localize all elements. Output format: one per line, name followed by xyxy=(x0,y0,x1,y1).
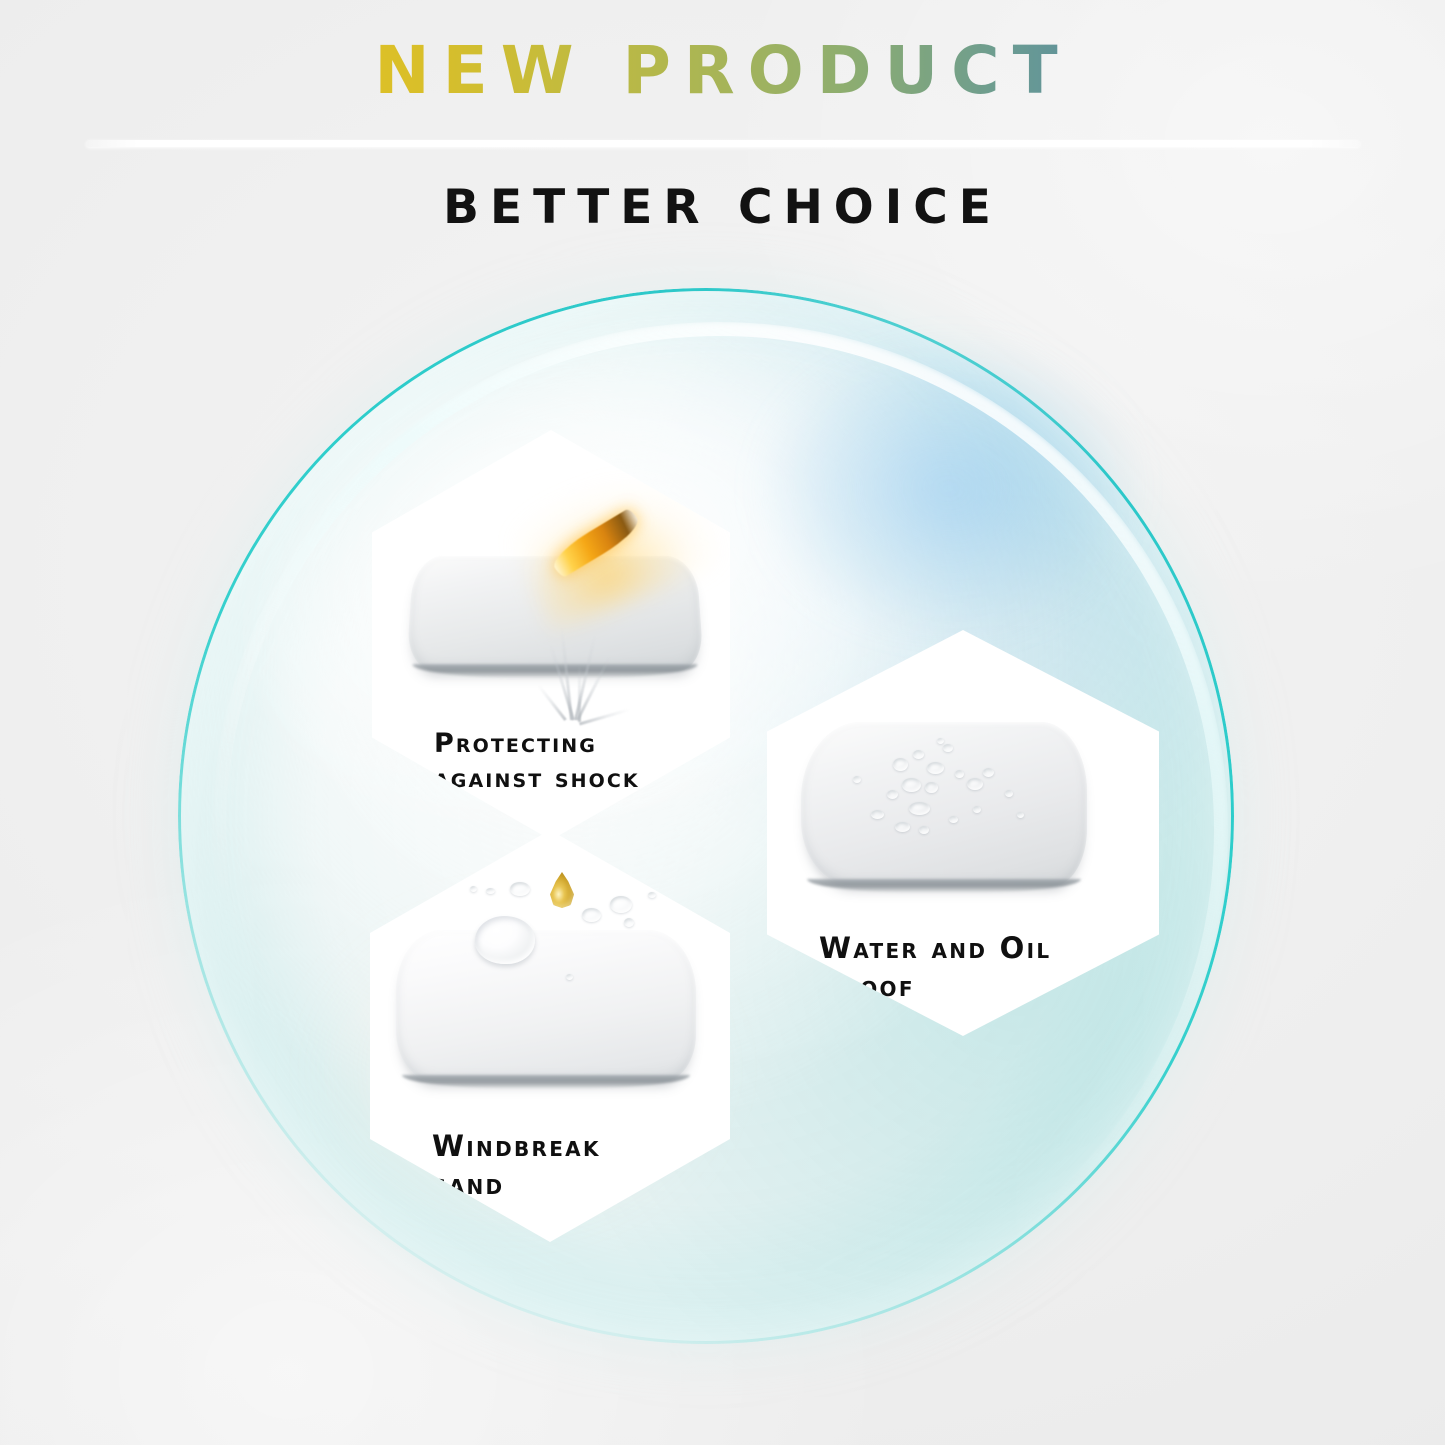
water-bead-large xyxy=(475,916,535,964)
water-droplet xyxy=(871,810,884,819)
page-subtitle: BETTER CHOICE xyxy=(0,180,1445,235)
water-droplet xyxy=(925,782,938,793)
water-droplet xyxy=(648,892,656,898)
impact-streak xyxy=(578,664,581,722)
water-droplet xyxy=(902,778,921,792)
lens-image-sand xyxy=(396,930,696,1082)
water-droplet xyxy=(973,806,981,813)
oil-droplet xyxy=(550,872,574,908)
water-droplet xyxy=(927,762,944,774)
water-droplet xyxy=(919,826,929,834)
water-droplet xyxy=(1005,790,1013,797)
water-droplet xyxy=(895,822,910,832)
water-droplet xyxy=(955,770,964,778)
water-droplet xyxy=(470,886,477,892)
header-divider xyxy=(86,140,1360,147)
water-droplet xyxy=(909,802,930,815)
water-droplet xyxy=(887,790,898,799)
water-droplet xyxy=(610,896,632,913)
lens-edge xyxy=(402,1075,690,1089)
water-droplet xyxy=(624,918,634,927)
caption-line-1: Windbreak xyxy=(432,1128,601,1166)
impact-streak xyxy=(579,708,630,725)
lens-edge xyxy=(807,879,1082,893)
feature-caption-protecting-against-shock: Protecting against shock xyxy=(434,726,640,796)
product-poster: NEW PRODUCT BETTER CHOICE Protecting xyxy=(0,0,1445,1445)
water-droplet xyxy=(566,974,573,980)
water-droplet xyxy=(949,816,958,823)
water-droplet xyxy=(913,750,924,759)
water-droplet xyxy=(582,908,601,922)
water-droplet xyxy=(510,882,530,896)
water-droplet xyxy=(853,776,861,783)
water-droplet xyxy=(983,768,994,777)
caption-line-1: Water and Oil xyxy=(819,930,1051,968)
water-droplet xyxy=(937,738,944,744)
water-droplet xyxy=(893,758,908,771)
water-droplet xyxy=(1017,812,1024,818)
page-title: NEW PRODUCT xyxy=(0,38,1445,104)
water-droplet xyxy=(486,888,495,894)
caption-line-1: Protecting xyxy=(434,726,640,761)
water-droplet xyxy=(943,744,953,752)
water-droplet xyxy=(967,778,983,790)
